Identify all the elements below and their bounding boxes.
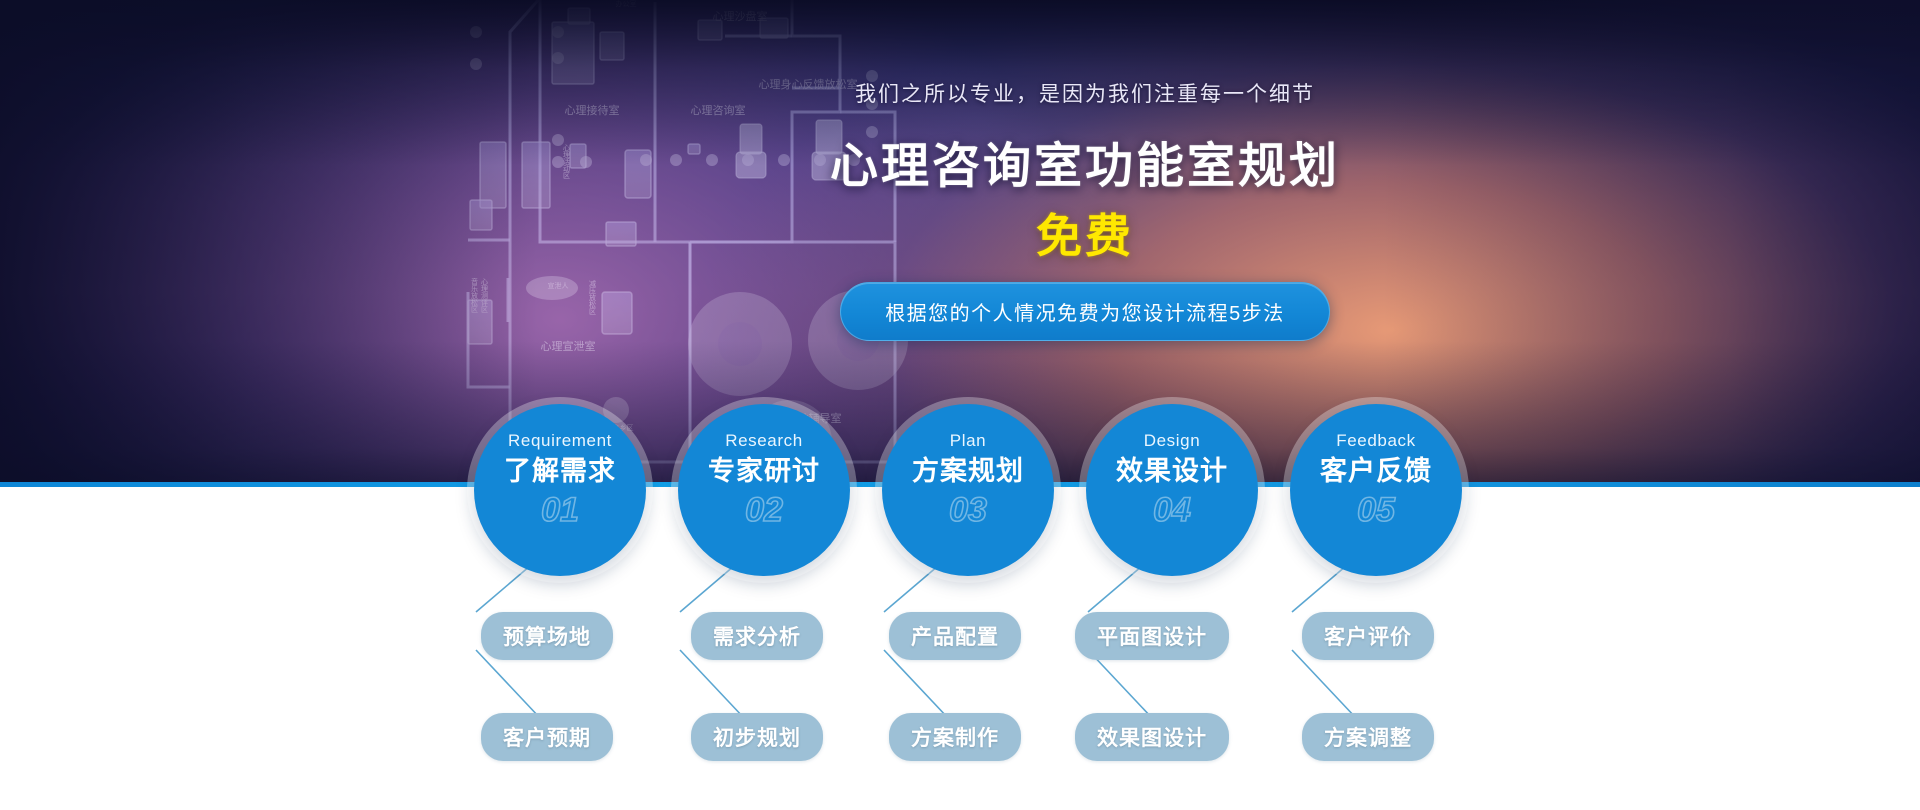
step-circle-3[interactable]: Plan 方案规划 03 (882, 404, 1054, 576)
step-subtag-bottom-5[interactable]: 方案调整 (1302, 713, 1434, 761)
step-cn-label-2: 专家研讨 (708, 458, 820, 485)
step-number-5: 05 (1357, 493, 1395, 527)
step-subtag-bottom-1[interactable]: 客户预期 (481, 713, 613, 761)
step-en-label-1: Requirement (508, 432, 612, 449)
step-cn-label-5: 客户反馈 (1320, 458, 1432, 485)
step-number-2: 02 (745, 493, 783, 527)
step-en-label-2: Research (725, 432, 803, 449)
step-number-3: 03 (949, 493, 987, 527)
step-cn-label-3: 方案规划 (912, 458, 1024, 485)
step-number-4: 04 (1153, 493, 1191, 527)
steps-container: Requirement 了解需求 01 Research 专家研讨 02 Pla… (0, 0, 1920, 810)
step-subtag-bottom-3[interactable]: 方案制作 (889, 713, 1021, 761)
step-circle-4[interactable]: Design 效果设计 04 (1086, 404, 1258, 576)
step-circle-2[interactable]: Research 专家研讨 02 (678, 404, 850, 576)
step-circle-5[interactable]: Feedback 客户反馈 05 (1290, 404, 1462, 576)
step-subtag-top-5[interactable]: 客户评价 (1302, 612, 1434, 660)
step-subtag-top-3[interactable]: 产品配置 (889, 612, 1021, 660)
banner-root: 心理接待室 心理咨询室 心理沙盘室 心理身心反馈放松室 心理宣泄室 心理团体活动… (0, 0, 1920, 810)
step-en-label-3: Plan (950, 432, 986, 449)
step-subtag-top-4[interactable]: 平面图设计 (1075, 612, 1229, 660)
step-cn-label-4: 效果设计 (1116, 458, 1228, 485)
step-subtag-bottom-4[interactable]: 效果图设计 (1075, 713, 1229, 761)
step-subtag-top-2[interactable]: 需求分析 (691, 612, 823, 660)
step-subtag-bottom-2[interactable]: 初步规划 (691, 713, 823, 761)
step-en-label-5: Feedback (1336, 432, 1415, 449)
step-circle-1[interactable]: Requirement 了解需求 01 (474, 404, 646, 576)
step-subtag-top-1[interactable]: 预算场地 (481, 612, 613, 660)
step-cn-label-1: 了解需求 (504, 458, 616, 485)
step-number-1: 01 (541, 493, 579, 527)
step-en-label-4: Design (1144, 432, 1201, 449)
